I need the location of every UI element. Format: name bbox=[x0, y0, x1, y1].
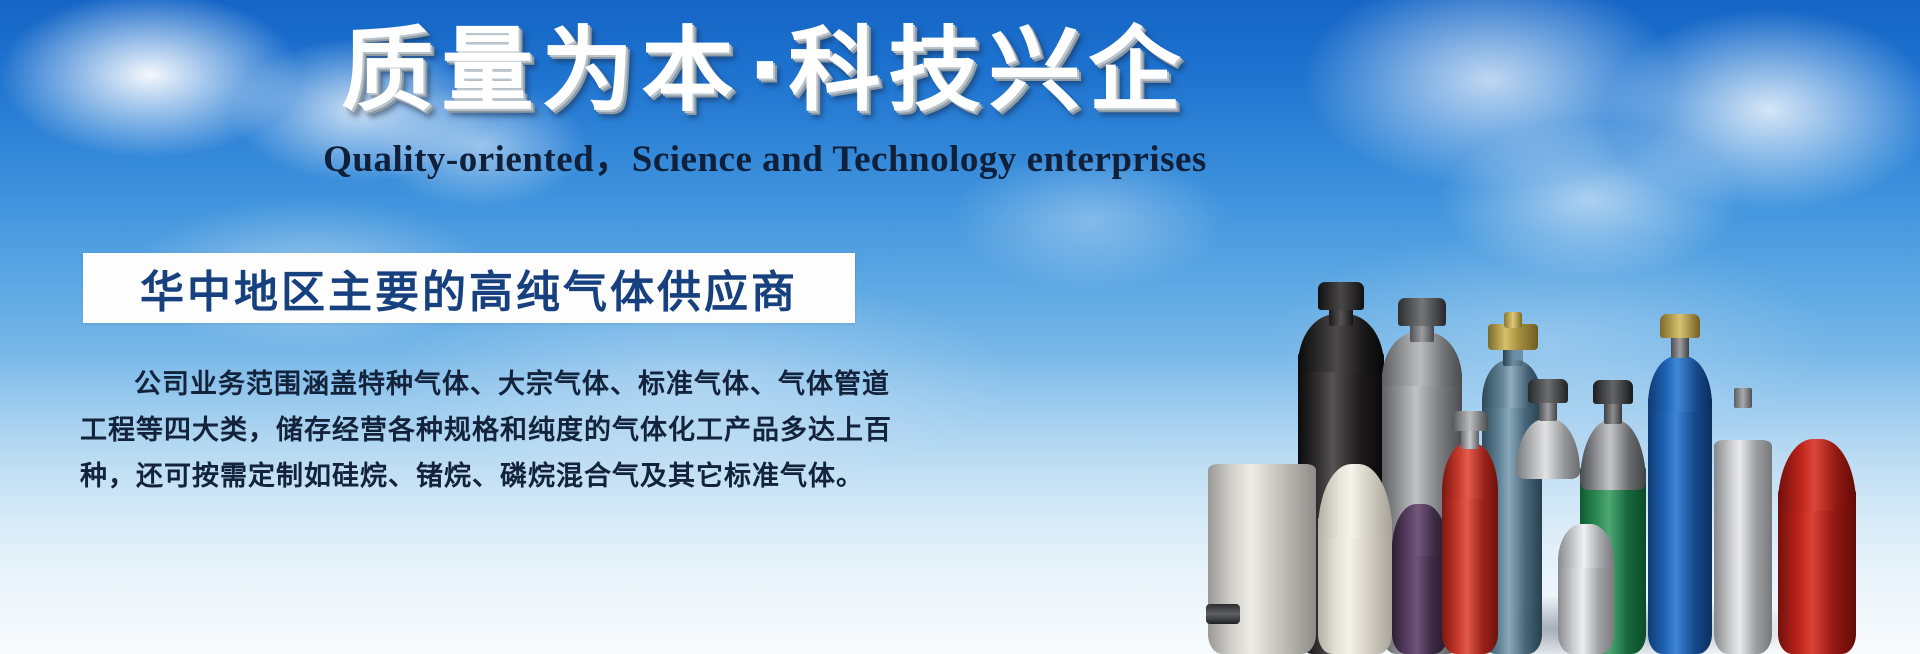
cylinder-valve-handwheel bbox=[1504, 312, 1522, 328]
cylinder-shoulder bbox=[1318, 464, 1392, 538]
headline-container: 质量为本·科技兴企 bbox=[0, 18, 1530, 124]
cylinder-valve-cap bbox=[1528, 379, 1568, 403]
cylinder-shoulder bbox=[1558, 524, 1614, 568]
headline-part-1: 质量为本 bbox=[342, 17, 742, 124]
cylinder-body bbox=[1714, 440, 1772, 654]
cylinder-shoulder bbox=[1648, 356, 1712, 412]
cylinder-valve-cap bbox=[1398, 298, 1446, 326]
cylinder-shoulder bbox=[1714, 404, 1772, 456]
gas-cylinder-lying-grey bbox=[1228, 576, 1528, 648]
gas-cylinder-aluminium bbox=[1714, 404, 1772, 654]
headline-separator: · bbox=[742, 17, 789, 124]
cylinder-shoulder bbox=[1516, 419, 1580, 479]
promotional-banner: 质量为本·科技兴企 Quality-oriented，Science and T… bbox=[0, 0, 1920, 654]
cylinder-body bbox=[1648, 394, 1712, 654]
cylinder-shoulder bbox=[1580, 420, 1646, 490]
body-line-2: 工程等四大类，储存经营各种规格和纯度的气体化工产品多达上百 bbox=[80, 408, 870, 454]
tagline-text: 华中地区主要的高纯气体供应商 bbox=[140, 256, 798, 320]
gas-cylinder-blue bbox=[1648, 354, 1712, 654]
cylinder-valve-cap bbox=[1593, 380, 1633, 404]
headline-part-2: 科技兴企 bbox=[788, 17, 1188, 124]
cylinder-valve-cap bbox=[1660, 314, 1700, 338]
lying-cylinder-valve bbox=[1206, 604, 1240, 624]
product-photo-gas-cylinders bbox=[1220, 134, 1920, 654]
cylinder-shoulder bbox=[1442, 443, 1498, 499]
gas-cylinder-red-tall bbox=[1778, 439, 1856, 654]
cylinder-shoulder bbox=[1392, 504, 1448, 556]
main-headline: 质量为本·科技兴企 bbox=[342, 18, 1189, 124]
body-paragraph: 公司业务范围涵盖特种气体、大宗气体、标准气体、气体管道 工程等四大类，储存经营各… bbox=[80, 362, 870, 500]
body-line-1: 公司业务范围涵盖特种气体、大宗气体、标准气体、气体管道 bbox=[80, 362, 870, 408]
cylinder-shoulder bbox=[1778, 439, 1856, 511]
cylinder-neck bbox=[1671, 336, 1689, 358]
gas-cylinder-aluminium bbox=[1558, 524, 1614, 654]
body-line-3: 种，还可按需定制如硅烷、锗烷、磷烷混合气及其它标准气体。 bbox=[80, 454, 870, 500]
cylinder-valve-cap bbox=[1318, 282, 1364, 310]
cylinder-neck bbox=[1734, 388, 1752, 408]
cylinder-valve-cap bbox=[1452, 411, 1488, 431]
cylinder-body bbox=[1778, 487, 1856, 654]
cylinder-shoulder bbox=[1208, 402, 1316, 498]
cylinder-body bbox=[1558, 554, 1614, 654]
tagline-box: 华中地区主要的高纯气体供应商 bbox=[83, 253, 855, 323]
